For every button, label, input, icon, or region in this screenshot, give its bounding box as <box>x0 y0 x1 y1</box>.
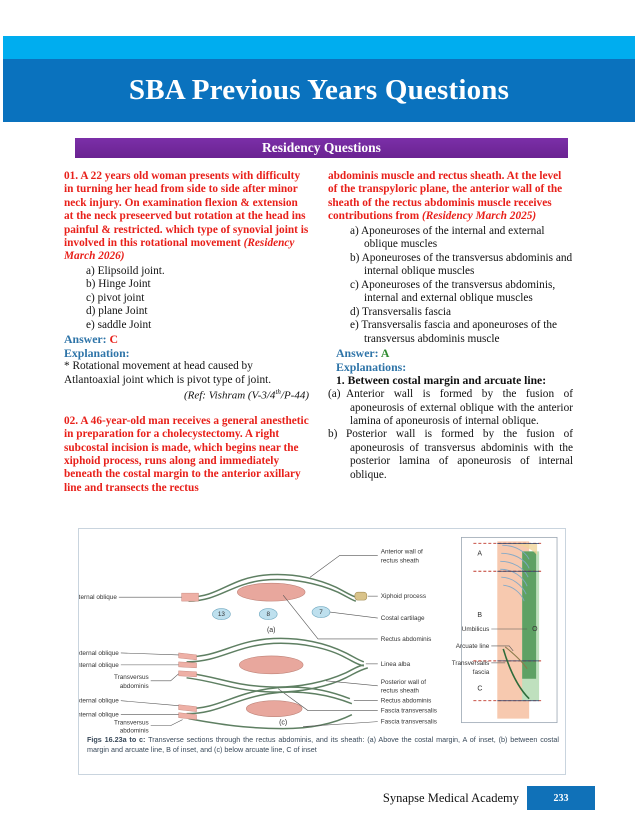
explanation-point: b)Posterior wall is formed by the fusion… <box>328 428 573 482</box>
option-item[interactable]: c) Aponeuroses of the transversus abdomi… <box>350 279 573 306</box>
explanation-point: (a)Anterior wall is formed by the fusion… <box>328 388 573 428</box>
rectus-abdominis-a <box>237 583 305 601</box>
external-oblique-muscle-a <box>182 593 199 601</box>
cartilage-number-8: 8 <box>266 611 270 618</box>
xiphoid-process-shape <box>355 592 367 600</box>
option-item[interactable]: a) Aponeuroses of the internal and exter… <box>350 225 573 252</box>
question-1-stem: 01. A 22 years old woman presents with d… <box>64 170 309 264</box>
label-external-oblique-c: External oblique <box>79 698 119 705</box>
inset-marker-right: O <box>532 626 538 633</box>
question-1-answer: Answer: C <box>64 332 309 346</box>
figure-panel-a: 13 8 7 External oblique Anterior wall of… <box>79 548 431 643</box>
panel-tag-a: (a) <box>267 627 276 634</box>
reference-tail: /P-44) <box>281 390 309 402</box>
page-footer: Synapse Medical Academy 233 <box>0 786 637 816</box>
figure-caption-text: Transverse sections through the rectus a… <box>87 735 559 754</box>
point-marker: b) <box>328 428 346 441</box>
option-item[interactable]: a) Elipsoild joint. <box>86 265 309 279</box>
internal-oblique-muscle-b <box>179 662 197 668</box>
column-spacer <box>64 402 309 415</box>
answer-value: C <box>110 332 119 346</box>
page-number-value: 233 <box>554 793 569 804</box>
content-columns: 01. A 22 years old woman presents with d… <box>0 170 637 530</box>
section-banner: Residency Questions <box>75 138 568 158</box>
option-item[interactable]: d) Transversalis fascia <box>350 306 573 320</box>
label-posterior-wall-rectus-sheath: Posterior wall of <box>381 679 426 686</box>
figure-caption: Figs 16.23a to c: Transverse sections th… <box>87 735 559 755</box>
anatomy-figure-svg: 13 8 7 External oblique Anterior wall of… <box>79 529 565 734</box>
label-rectus-abdominis-c: Rectus abdominis <box>381 698 432 705</box>
label-fascia-transversalis-b: Fascia transversalis <box>381 708 437 715</box>
footer-brand: Synapse Medical Academy <box>383 791 519 806</box>
label-external-oblique-b: External oblique <box>79 650 119 657</box>
inset-label-transversalis-fascia-line2: fascia <box>473 669 490 676</box>
label-transversus-abdominis-b-line2: abdominis <box>120 683 149 690</box>
label-transversus-abdominis-b: Transversus <box>114 674 149 681</box>
rectus-abdominis-b <box>239 656 303 674</box>
question-2-explanations-label: Explanations: <box>328 360 573 374</box>
question-1-explanation-label: Explanation: <box>64 346 309 360</box>
option-item[interactable]: c) pivot joint <box>86 292 309 306</box>
label-xiphoid-process: Xiphoid process <box>381 593 426 600</box>
option-item[interactable]: e) saddle Joint <box>86 319 309 333</box>
rectus-abdominis-c <box>246 701 302 717</box>
label-internal-oblique-b: Internal oblique <box>79 662 119 669</box>
figure-inset: A B C Umbilicus O Arcuate line Transvers… <box>452 537 557 722</box>
panel-tag-c: (c) <box>279 720 287 727</box>
transversus-abdominis-muscle-b <box>179 671 197 677</box>
right-column: abdominis muscle and rectus sheath. At t… <box>328 170 573 482</box>
label-transversus-abdominis-c: Transversus <box>114 720 149 727</box>
label-costal-cartilage: Costal cartilage <box>381 615 425 622</box>
external-oblique-muscle-c <box>179 705 197 712</box>
answer-value: A <box>381 346 390 360</box>
label-anterior-wall-rectus-sheath: Anterior wall of <box>381 548 423 555</box>
inset-rectus-muscle <box>522 551 536 678</box>
label-transversus-abdominis-c-line2: abdominis <box>120 728 149 734</box>
option-item[interactable]: b) Aponeuroses of the transversus abdomi… <box>350 252 573 279</box>
question-2-continuation-stem: abdominis muscle and rectus sheath. At t… <box>328 170 573 224</box>
point-text: Posterior wall is formed by the fusion o… <box>346 428 573 480</box>
question-2-options: a) Aponeuroses of the internal and exter… <box>328 225 573 347</box>
cartilage-number-13: 13 <box>218 611 226 618</box>
section-banner-label: Residency Questions <box>262 140 381 156</box>
external-oblique-muscle-b <box>179 653 197 660</box>
label-linea-alba: Linea alba <box>381 661 411 668</box>
label-internal-oblique-c: Internal oblique <box>79 712 119 719</box>
label-posterior-wall-rectus-sheath-line2: rectus sheath <box>381 688 420 695</box>
point-marker: (a) <box>328 388 346 401</box>
option-item[interactable]: e) Transversalis fascia and aponeuroses … <box>350 319 573 346</box>
question-2-answer: Answer: A <box>328 346 573 360</box>
question-1-explanation-text: * Rotational movement at head caused by … <box>64 360 309 387</box>
page-header: SBA Previous Years Questions <box>3 36 635 122</box>
inset-label-umbilicus: Umbilicus <box>462 626 490 633</box>
question-2-sub-heading: 1. Between costal margin and arcuate lin… <box>328 374 573 388</box>
reference-head: (Ref: Vishram (V-3/4 <box>184 390 275 402</box>
question-1-options: a) Elipsoild joint. b) Hinge Joint c) pi… <box>64 265 309 333</box>
label-anterior-wall-rectus-sheath-line2: rectus sheath <box>381 557 420 564</box>
question-2-explanation-points: (a)Anterior wall is formed by the fusion… <box>328 388 573 482</box>
answer-label: Answer: <box>64 332 107 346</box>
figure-caption-number: Figs 16.23a to c: <box>87 735 145 744</box>
left-column: 01. A 22 years old woman presents with d… <box>64 170 309 496</box>
page-title: SBA Previous Years Questions <box>3 59 635 122</box>
label-fascia-transversalis-c: Fascia transversalis <box>381 719 437 726</box>
cartilage-number-7: 7 <box>319 609 323 616</box>
inset-zone-label-c: C <box>477 686 482 693</box>
anatomy-figure-panel: 13 8 7 External oblique Anterior wall of… <box>78 528 566 775</box>
question-2-stem: 02. A 46-year-old man receives a general… <box>64 415 309 495</box>
header-accent-strip <box>3 36 635 59</box>
page-number-badge: 233 <box>527 786 595 810</box>
answer-label: Answer: <box>336 346 379 360</box>
label-external-oblique-a: External oblique <box>79 594 117 601</box>
question-2-source: (Residency March 2025) <box>422 210 536 222</box>
inset-zone-label-a: A <box>477 550 482 557</box>
option-item[interactable]: d) plane Joint <box>86 305 309 319</box>
question-1-reference: (Ref: Vishram (V-3/4th/P-44) <box>64 388 309 402</box>
inset-label-arcuate-line: Arcuate line <box>456 643 490 650</box>
label-rectus-abdominis-a: Rectus abdominis <box>381 636 432 643</box>
option-item[interactable]: b) Hinge Joint <box>86 278 309 292</box>
inset-zone-label-b: B <box>477 612 482 619</box>
inset-label-transversalis-fascia: Transversalis <box>452 660 490 667</box>
point-text: Anterior wall is formed by the fusion of… <box>346 388 573 427</box>
